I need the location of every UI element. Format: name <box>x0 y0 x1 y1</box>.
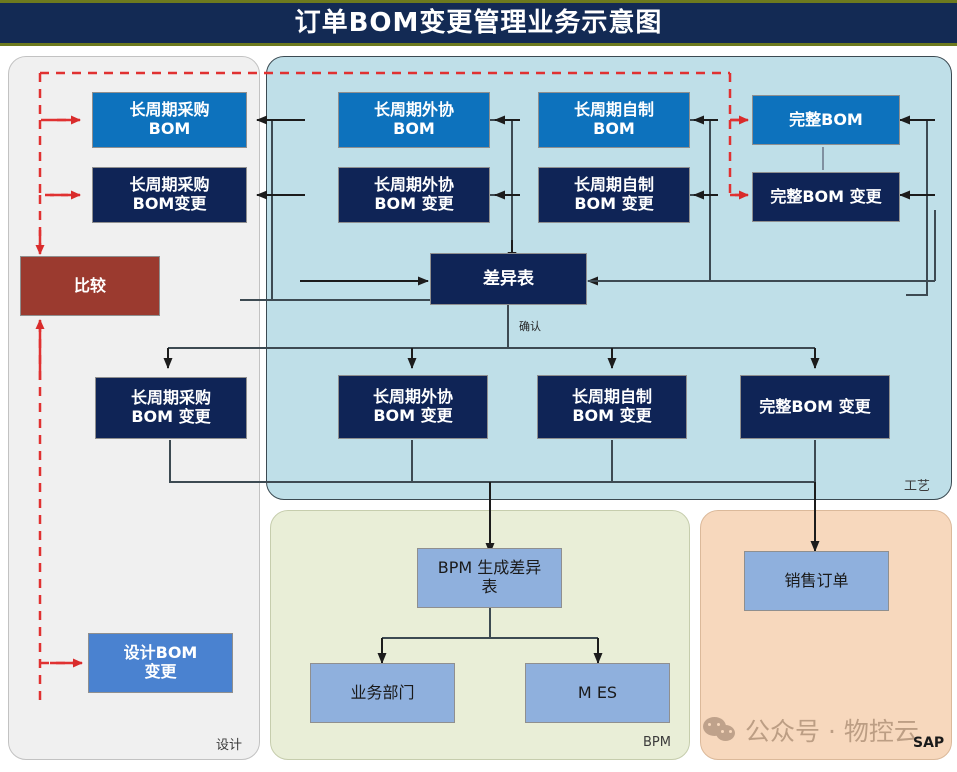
node-purchase-bom[interactable]: 长周期采购BOM <box>92 92 247 148</box>
node-full-bom-change[interactable]: 完整BOM 变更 <box>752 172 900 222</box>
node-mes[interactable]: M ES <box>525 663 670 723</box>
node-label: 长周期采购BOM变更 <box>129 176 209 214</box>
node-full-bom[interactable]: 完整BOM <box>752 95 900 145</box>
node-label: 完整BOM <box>789 111 863 130</box>
title-bar: 订单BOM变更管理业务示意图 <box>0 0 957 46</box>
node-label: 长周期自制BOM 变更 <box>572 388 652 426</box>
edge-label-confirm: 确认 <box>519 318 541 334</box>
node-selfmade-change-out[interactable]: 长周期自制BOM 变更 <box>537 375 687 439</box>
node-bpm-diff[interactable]: BPM 生成差异表 <box>417 548 562 608</box>
node-outsource-bom[interactable]: 长周期外协BOM <box>338 92 490 148</box>
node-purchase-bom-change[interactable]: 长周期采购BOM变更 <box>92 167 247 223</box>
node-compare[interactable]: 比较 <box>20 256 160 316</box>
panel-label-bpm: BPM <box>643 735 671 750</box>
node-sales-order[interactable]: 销售订单 <box>744 551 889 611</box>
node-label: M ES <box>578 684 617 703</box>
node-label: 完整BOM 变更 <box>770 188 881 207</box>
node-label: 长周期采购BOM <box>129 101 209 139</box>
node-label: 业务部门 <box>350 684 414 703</box>
node-full-change-out[interactable]: 完整BOM 变更 <box>740 375 890 439</box>
node-design-bom-change[interactable]: 设计BOM变更 <box>88 633 233 693</box>
node-label: 销售订单 <box>784 572 848 591</box>
node-selfmade-bom[interactable]: 长周期自制BOM <box>538 92 690 148</box>
node-label: 比较 <box>74 277 106 296</box>
watermark: 公众号 · 物控云 <box>703 712 919 748</box>
node-label: 完整BOM 变更 <box>759 398 870 417</box>
node-label: 长周期自制BOM <box>574 101 654 139</box>
wechat-icon <box>703 717 737 743</box>
node-business-dept[interactable]: 业务部门 <box>310 663 455 723</box>
node-outsource-bom-change[interactable]: 长周期外协BOM 变更 <box>338 167 490 223</box>
node-label: BPM 生成差异表 <box>438 559 542 597</box>
node-label: 长周期外协BOM <box>374 101 454 139</box>
node-outsource-change-out[interactable]: 长周期外协BOM 变更 <box>338 375 488 439</box>
node-diff-table[interactable]: 差异表 <box>430 253 587 305</box>
node-label: 长周期外协BOM 变更 <box>373 388 453 426</box>
node-purchase-bom-change-out[interactable]: 长周期采购BOM 变更 <box>95 377 247 439</box>
node-label: 长周期采购BOM 变更 <box>131 389 211 427</box>
node-label: 差异表 <box>483 269 534 289</box>
panel-label-sap: SAP <box>913 735 944 751</box>
page-title: 订单BOM变更管理业务示意图 <box>0 3 957 43</box>
panel-label-craft: 工艺 <box>904 475 930 494</box>
panel-label-design: 设计 <box>216 734 242 753</box>
diagram-canvas: 订单BOM变更管理业务示意图 设计 工艺 BPM <box>0 0 957 772</box>
watermark-text: 公众号 · 物控云 <box>745 712 919 748</box>
node-label: 设计BOM变更 <box>124 644 198 682</box>
node-label: 长周期外协BOM 变更 <box>374 176 454 214</box>
node-label: 长周期自制BOM 变更 <box>574 176 654 214</box>
node-selfmade-bom-change[interactable]: 长周期自制BOM 变更 <box>538 167 690 223</box>
